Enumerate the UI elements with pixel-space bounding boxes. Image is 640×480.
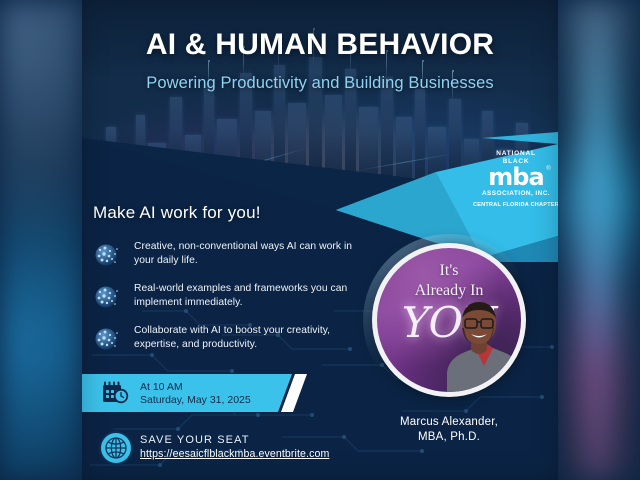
logo-line-chapter: CENTRAL FLORIDA CHAPTER xyxy=(470,201,558,209)
section-kicker: Make AI work for you! xyxy=(93,203,261,223)
logo-wordmark-mba: mba xyxy=(488,163,543,191)
letterbox-band-left xyxy=(0,0,82,480)
event-date: Saturday, May 31, 2025 xyxy=(140,394,251,407)
page-title: AI & HUMAN BEHAVIOR xyxy=(82,28,558,62)
speaker-name-line-2: MBA, Ph.D. xyxy=(372,430,526,445)
list-item-label: Collaborate with AI to boost your creati… xyxy=(134,324,357,352)
speaker-photo xyxy=(431,288,521,392)
registration-url-link[interactable]: https://eesaicflblackmba.eventbrite.com xyxy=(140,448,329,460)
page-subtitle: Powering Productivity and Building Busin… xyxy=(82,74,558,93)
list-item: Collaborate with AI to boost your creati… xyxy=(93,324,357,353)
logo-line-association: ASSOCIATION, INC. xyxy=(470,190,558,198)
screenshot-frame: NATIONAL BLACK mba ® ASSOCIATION, INC. C… xyxy=(0,0,640,480)
save-your-seat-label: SAVE YOUR SEAT xyxy=(140,434,329,446)
benefits-list: Creative, non-conventional ways AI can w… xyxy=(93,240,357,366)
calendar-clock-icon xyxy=(103,381,129,405)
badge-line-1: It's xyxy=(377,262,521,280)
letterbox-band-right xyxy=(558,0,640,480)
list-item: Creative, non-conventional ways AI can w… xyxy=(93,240,357,269)
network-sphere-icon xyxy=(93,325,121,353)
logo-line-national: NATIONAL xyxy=(470,150,558,158)
speaker-name-line-1: Marcus Alexander, xyxy=(372,415,526,430)
registration-block: SAVE YOUR SEAT https://eesaicflblackmba.… xyxy=(140,434,329,460)
nbmbaa-logo: NATIONAL BLACK mba ® ASSOCIATION, INC. C… xyxy=(470,150,558,209)
list-item-label: Creative, non-conventional ways AI can w… xyxy=(134,240,357,268)
event-date-banner: At 10 AM Saturday, May 31, 2025 xyxy=(82,374,307,412)
list-item: Real-world examples and frameworks you c… xyxy=(93,282,357,311)
network-sphere-icon xyxy=(93,283,121,311)
speaker-portrait: It's Already In YOU xyxy=(377,248,521,392)
globe-web-icon xyxy=(98,430,134,466)
list-item-label: Real-world examples and frameworks you c… xyxy=(134,282,357,310)
event-datetime: At 10 AM Saturday, May 31, 2025 xyxy=(140,381,251,406)
network-sphere-icon xyxy=(93,241,121,269)
event-poster: NATIONAL BLACK mba ® ASSOCIATION, INC. C… xyxy=(82,0,558,480)
registered-trademark-icon: ® xyxy=(546,166,550,172)
event-time: At 10 AM xyxy=(140,381,251,394)
speaker-name: Marcus Alexander, MBA, Ph.D. xyxy=(372,415,526,445)
